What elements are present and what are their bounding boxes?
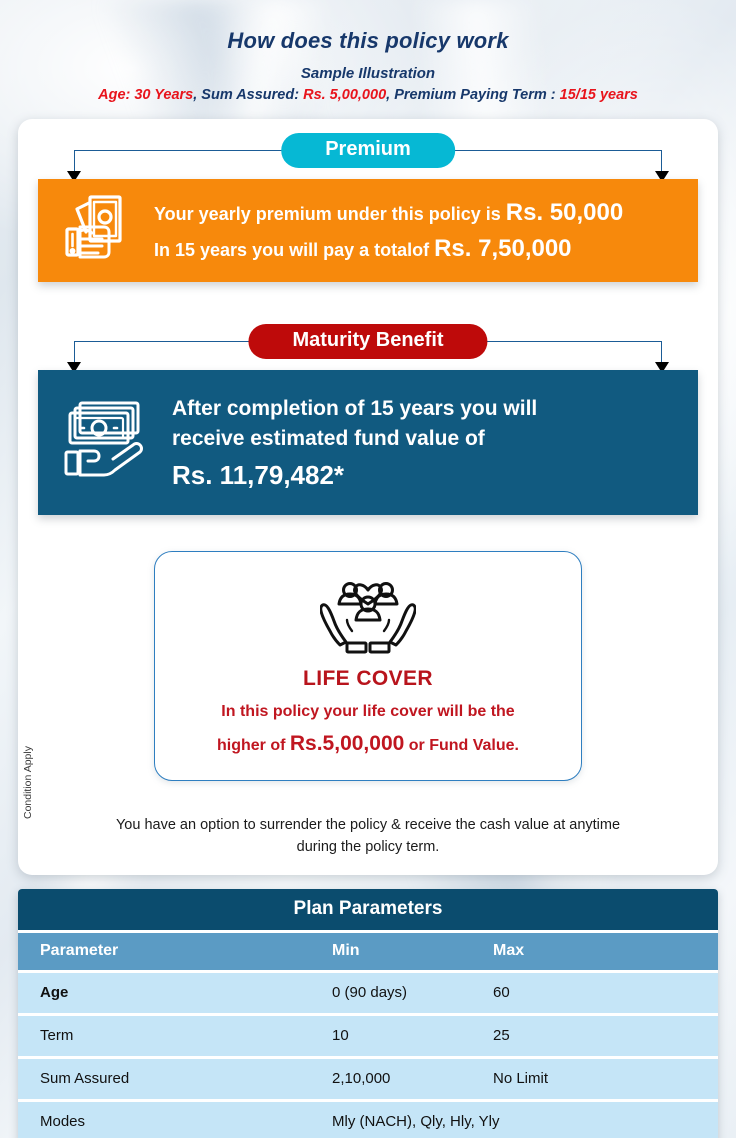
surrender-note-line-2: during the policy term. — [70, 837, 666, 859]
maturity-fund-value: Rs. 11,79,482* — [172, 460, 537, 491]
param-age: Age: 30 Years — [98, 87, 193, 103]
hand-holding-cash-icon — [60, 191, 134, 270]
cell-parameter-term: Term — [18, 1016, 326, 1056]
maturity-line-1: After completion of 15 years you will — [172, 394, 537, 424]
policy-card: Premium Your yearly premium under this — [18, 119, 718, 875]
cell-parameter-sum-assured: Sum Assured — [18, 1059, 326, 1099]
cell-max-sum-assured: No Limit — [487, 1059, 718, 1099]
maturity-text: After completion of 15 years you will re… — [172, 394, 537, 491]
parameters-grid: Parameter Min Max Age 0 (90 days) 60 Ter… — [18, 930, 718, 1138]
family-in-hands-icon — [173, 568, 563, 665]
premium-yearly-amount: Rs. 50,000 — [506, 199, 623, 226]
table-row: Age 0 (90 days) 60 — [18, 973, 718, 1013]
page-title: How does this policy work — [26, 28, 710, 54]
column-header-min: Min — [326, 933, 487, 970]
table-head: Parameter Min Max — [18, 933, 718, 970]
surrender-note: You have an option to surrender the poli… — [70, 815, 666, 859]
maturity-pill: Maturity Benefit — [248, 324, 487, 359]
table-header-row: Parameter Min Max — [18, 933, 718, 970]
param-sum-assured: Rs. 5,00,000 — [303, 87, 386, 103]
life-cover-amount: Rs.5,00,000 — [290, 732, 404, 755]
infographic-page: How does this policy work Sample Illustr… — [0, 0, 736, 1138]
header: How does this policy work Sample Illustr… — [0, 0, 736, 113]
premium-line-1: Your yearly premium under this policy is… — [154, 195, 623, 231]
life-cover-card: LIFE COVER In this policy your life cove… — [154, 551, 582, 782]
cell-min-sum-assured: 2,10,000 — [326, 1059, 487, 1099]
condition-apply-label: Condition Apply — [22, 746, 34, 819]
cell-max-age: 60 — [487, 973, 718, 1013]
premium-connector: Premium — [52, 133, 684, 179]
cash-in-palm-icon — [60, 397, 152, 488]
premium-line-2-prefix: In 15 years you will pay a totalof — [154, 240, 434, 260]
table-row: Modes Mly (NACH), Qly, Hly, Yly — [18, 1102, 718, 1138]
premium-line-1-prefix: Your yearly premium under this policy is — [154, 204, 506, 224]
premium-line-2: In 15 years you will pay a totalof Rs. 7… — [154, 231, 623, 267]
plan-parameters-table: Plan Parameters Parameter Min Max Age 0 … — [18, 889, 718, 1138]
param-premium-paying-term: 15/15 years — [560, 87, 638, 103]
premium-pill: Premium — [281, 133, 455, 168]
table-title: Plan Parameters — [18, 889, 718, 930]
life-cover-line-2-prefix: higher of — [217, 737, 290, 754]
cell-parameter-modes: Modes — [18, 1102, 326, 1138]
premium-total-amount: Rs. 7,50,000 — [434, 235, 571, 262]
maturity-connector: Maturity Benefit — [52, 324, 684, 370]
table-row: Sum Assured 2,10,000 No Limit — [18, 1059, 718, 1099]
cell-min-term: 10 — [326, 1016, 487, 1056]
table-row: Term 10 25 — [18, 1016, 718, 1056]
life-cover-title: LIFE COVER — [173, 667, 563, 691]
param-sep-1: , Sum Assured: — [193, 87, 303, 103]
maturity-line-2: receive estimated fund value of — [172, 424, 537, 454]
cell-min-age: 0 (90 days) — [326, 973, 487, 1013]
surrender-note-line-1: You have an option to surrender the poli… — [70, 815, 666, 837]
life-cover-line-1: In this policy your life cover will be t… — [173, 698, 563, 726]
column-header-parameter: Parameter — [18, 933, 326, 970]
column-header-max: Max — [487, 933, 718, 970]
header-subtitle: Sample Illustration — [26, 65, 710, 82]
premium-banner: Your yearly premium under this policy is… — [38, 179, 698, 282]
premium-text: Your yearly premium under this policy is… — [154, 195, 623, 267]
life-cover-text: In this policy your life cover will be t… — [173, 698, 563, 763]
table-body: Age 0 (90 days) 60 Term 10 25 Sum Assure… — [18, 973, 718, 1138]
life-cover-line-2: higher of Rs.5,00,000 or Fund Value. — [173, 726, 563, 763]
cell-parameter-age: Age — [18, 973, 326, 1013]
param-sep-2: , Premium Paying Term : — [386, 87, 560, 103]
maturity-banner: After completion of 15 years you will re… — [38, 370, 698, 515]
cell-modes-value: Mly (NACH), Qly, Hly, Yly — [326, 1102, 718, 1138]
life-cover-line-2-suffix: or Fund Value. — [404, 737, 519, 754]
header-parameters: Age: 30 Years, Sum Assured: Rs. 5,00,000… — [26, 87, 710, 103]
cell-max-term: 25 — [487, 1016, 718, 1056]
